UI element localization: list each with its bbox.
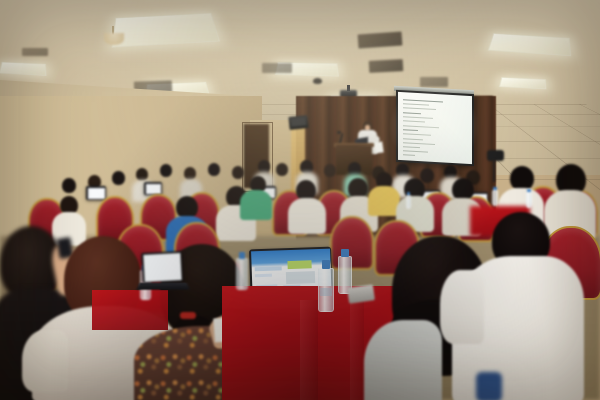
ceiling-light-panel [0,62,46,76]
ceiling-dome-camera-icon [313,78,322,84]
attendee-torso [288,198,326,234]
speaker-grill-icon [291,117,307,127]
banquet-chair-foreground [550,250,600,346]
water-bottle [406,195,411,209]
projection-screen-surface [398,92,472,164]
ceiling-vent [262,63,292,73]
microphone-icon [337,131,341,134]
ceiling-vent [369,59,404,73]
attendee-head [324,164,336,177]
attendee-leg [476,372,502,400]
foreground-sleeve [22,330,68,392]
attendee-laptop-keyboard[interactable] [136,283,189,290]
water-bottle[interactable] [236,258,248,290]
attendee-head [232,166,244,179]
attendee-head [62,178,76,193]
attendee-head [112,171,125,185]
presenter-papers [373,141,383,153]
tablecloth-fold [350,296,364,400]
attendee-head [208,163,220,176]
foreground-table-left [92,290,168,330]
water-bottle [526,192,532,208]
ceiling-vent [22,48,48,56]
conference-room-photo: Rear view of a seminar room: rows of peo… [0,0,600,400]
pendant-lamp [104,33,124,45]
water-bottle [492,190,498,206]
projection-screen [396,90,474,166]
attendee-torso-green [240,190,272,220]
attendee-head [160,164,172,177]
tablecloth-fold [300,300,318,400]
water-bottle[interactable] [318,268,334,312]
hair-tie [180,312,196,319]
tripod-camera [487,150,504,161]
tripod-legs [493,160,495,182]
ceiling-vent [420,77,448,87]
shirt-sleeve [440,270,484,344]
attendee-head [276,163,288,176]
attendee-laptop[interactable] [141,251,183,283]
